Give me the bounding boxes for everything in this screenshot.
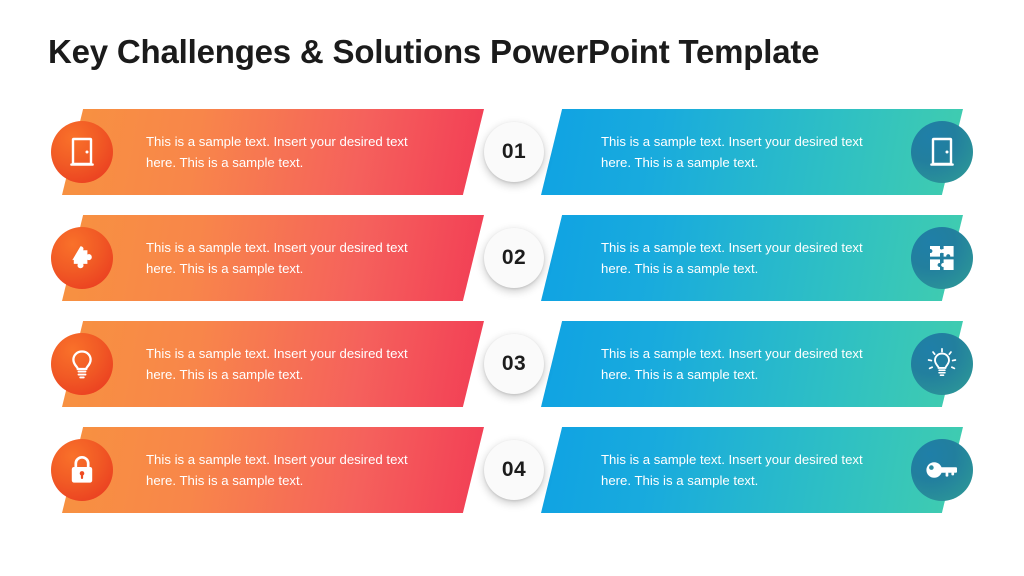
challenge-text: This is a sample text. Insert your desir… — [146, 237, 421, 279]
step-number-badge[interactable]: 04 — [484, 440, 544, 500]
solution-text: This is a sample text. Insert your desir… — [601, 343, 881, 385]
solution-text: This is a sample text. Insert your desir… — [601, 237, 881, 279]
puzzle-complete-icon — [911, 227, 973, 289]
page-title: Key Challenges & Solutions PowerPoint Te… — [48, 30, 978, 74]
challenge-banner[interactable]: This is a sample text. Insert your desir… — [62, 321, 484, 407]
door-open-icon — [911, 121, 973, 183]
solution-text: This is a sample text. Insert your desir… — [601, 449, 881, 491]
step-number-badge[interactable]: 01 — [484, 122, 544, 182]
lightbulb-icon — [51, 333, 113, 395]
slide-canvas: Key Challenges & Solutions PowerPoint Te… — [0, 0, 1024, 576]
challenge-banner[interactable]: This is a sample text. Insert your desir… — [62, 427, 484, 513]
content-row: This is a sample text. Insert your desir… — [0, 427, 1024, 513]
challenge-text: This is a sample text. Insert your desir… — [146, 449, 421, 491]
solution-text: This is a sample text. Insert your desir… — [601, 131, 881, 173]
challenge-banner[interactable]: This is a sample text. Insert your desir… — [62, 215, 484, 301]
step-number-label: 02 — [502, 246, 526, 270]
content-row: This is a sample text. Insert your desir… — [0, 321, 1024, 407]
step-number-label: 01 — [502, 140, 526, 164]
content-row: This is a sample text. Insert your desir… — [0, 109, 1024, 195]
solution-banner[interactable]: This is a sample text. Insert your desir… — [541, 427, 963, 513]
step-number-badge[interactable]: 02 — [484, 228, 544, 288]
challenge-banner[interactable]: This is a sample text. Insert your desir… — [62, 109, 484, 195]
lightbulb-shining-icon — [911, 333, 973, 395]
puzzle-piece-icon — [51, 227, 113, 289]
solution-banner[interactable]: This is a sample text. Insert your desir… — [541, 109, 963, 195]
step-number-badge[interactable]: 03 — [484, 334, 544, 394]
padlock-closed-icon — [51, 439, 113, 501]
content-row: This is a sample text. Insert your desir… — [0, 215, 1024, 301]
door-icon — [51, 121, 113, 183]
key-icon — [911, 439, 973, 501]
step-number-label: 04 — [502, 458, 526, 482]
challenge-text: This is a sample text. Insert your desir… — [146, 343, 421, 385]
solution-banner[interactable]: This is a sample text. Insert your desir… — [541, 321, 963, 407]
solution-banner[interactable]: This is a sample text. Insert your desir… — [541, 215, 963, 301]
step-number-label: 03 — [502, 352, 526, 376]
challenge-text: This is a sample text. Insert your desir… — [146, 131, 421, 173]
